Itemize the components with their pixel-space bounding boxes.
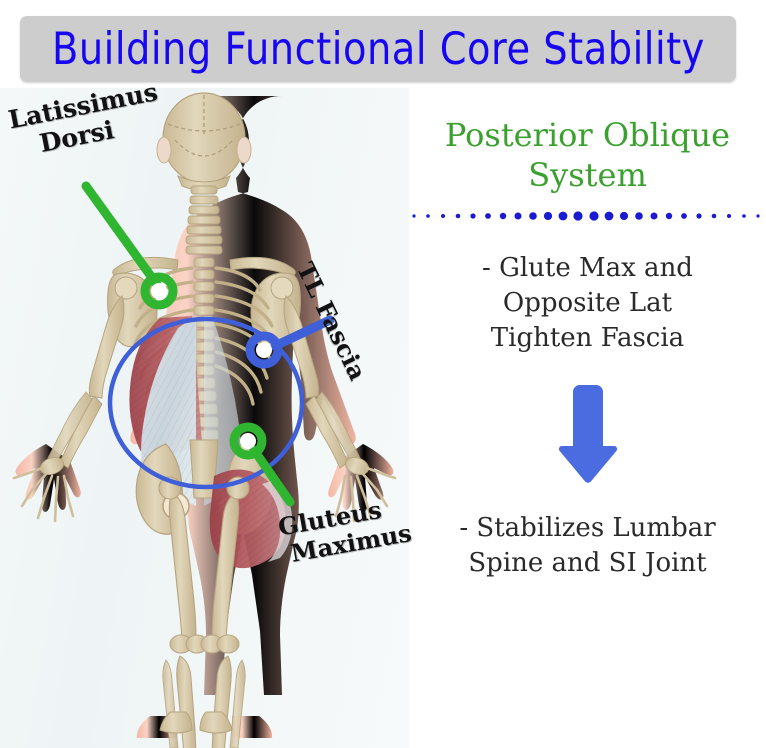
foot-bones xyxy=(160,712,232,733)
panel-point-2: - Stabilizes Lumbar Spine and SI Joint xyxy=(409,511,766,580)
down-arrow-icon xyxy=(555,379,621,487)
anatomy-illustration xyxy=(0,88,409,748)
infographic-root: Building Functional Core Stability xyxy=(0,0,766,748)
knee-joints xyxy=(170,635,239,653)
panel-point-2-line-2: Spine and SI Joint xyxy=(409,546,766,581)
dotted-divider xyxy=(410,207,765,225)
info-panel: Posterior Oblique System - Glute Max and xyxy=(409,92,766,748)
panel-point-1-line-3: Tighten Fascia xyxy=(409,321,766,356)
panel-heading: Posterior Oblique System xyxy=(409,116,766,195)
panel-point-1-line-1: - Glute Max and xyxy=(409,251,766,286)
panel-point-1-line-2: Opposite Lat xyxy=(409,286,766,321)
panel-point-1: - Glute Max and Opposite Lat Tighten Fas… xyxy=(409,251,766,355)
arrow-container xyxy=(409,377,766,489)
panel-heading-line-1: Posterior Oblique xyxy=(409,116,766,156)
cervical-spine xyxy=(186,186,222,254)
panel-heading-line-2: System xyxy=(409,156,766,196)
page-title: Building Functional Core Stability xyxy=(52,23,705,74)
panel-point-2-line-1: - Stabilizes Lumbar xyxy=(409,511,766,546)
title-banner: Building Functional Core Stability xyxy=(20,16,736,82)
lower-leg-bones xyxy=(163,656,245,748)
